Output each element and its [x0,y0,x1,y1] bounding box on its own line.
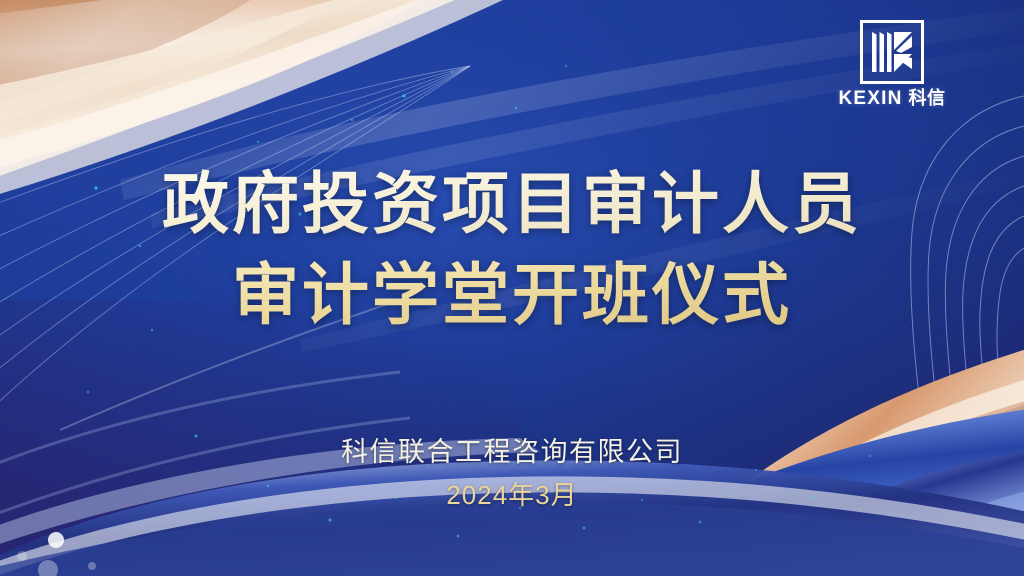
presentation-slide: KEXIN科信 政府投资项目审计人员 审计学堂开班仪式 科信联合工程咨询有限公司… [0,0,1024,576]
slide-subtitle: 科信联合工程咨询有限公司 2024年3月 [0,434,1024,513]
title-line-2: 审计学堂开班仪式 [0,255,1024,334]
logo-wordmark-latin: KEXIN [838,88,902,109]
kexin-logo: KEXIN科信 [802,20,982,108]
kexin-k-monogram-icon [860,20,924,84]
title-line-1: 政府投资项目审计人员 [0,164,1024,243]
slide-title: 政府投资项目审计人员 审计学堂开班仪式 [0,164,1024,334]
logo-wordmark-cn: 科信 [909,88,946,108]
logo-wordmark: KEXIN科信 [802,89,982,108]
presentation-date: 2024年3月 [0,479,1024,513]
organization-name: 科信联合工程咨询有限公司 [0,434,1024,470]
